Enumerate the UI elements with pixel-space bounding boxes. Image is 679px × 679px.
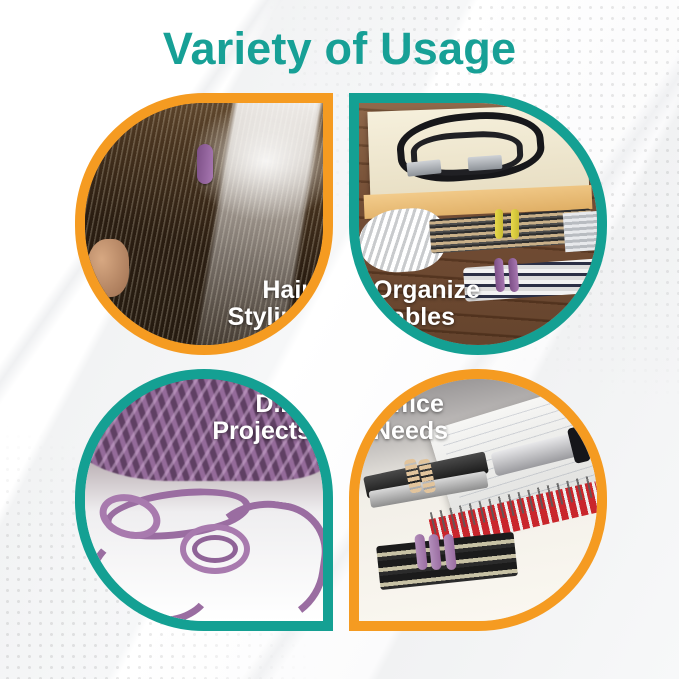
pen-bundle xyxy=(463,258,603,301)
quadrant-organize-cables[interactable]: Organize Cables xyxy=(349,93,607,355)
caption-hair-styling: Hair Styling xyxy=(228,277,311,331)
quadrant-office-needs[interactable]: Office Needs xyxy=(349,369,607,631)
quadrant-diy-projects[interactable]: D.I.Y Projects xyxy=(75,369,333,631)
usb-plug-right xyxy=(468,155,503,171)
usage-quadrant-grid: Hair Styling Organize Cables xyxy=(0,0,679,679)
yellow-band-2 xyxy=(511,209,519,239)
purple-band-1 xyxy=(493,258,504,293)
quadrant-hair-styling[interactable]: Hair Styling xyxy=(75,93,333,355)
purple-hair-band xyxy=(197,144,213,184)
yellow-band-1 xyxy=(495,209,503,239)
pencil-tips xyxy=(562,211,603,252)
caption-diy-projects: D.I.Y Projects xyxy=(212,391,311,445)
ear-shape xyxy=(87,239,129,297)
infographic-canvas: Variety of Usage Hair Styling xyxy=(0,0,679,679)
caption-office-needs: Office Needs xyxy=(373,391,448,445)
purple-band-2 xyxy=(508,258,519,293)
caption-organize-cables: Organize Cables xyxy=(373,277,480,331)
